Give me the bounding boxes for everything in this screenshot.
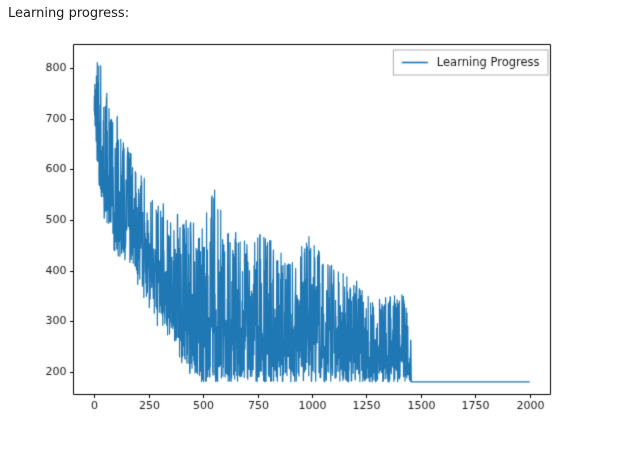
page-root: Learning progress: [0,0,634,452]
matplotlib-figure [0,26,634,446]
learning-progress-chart [0,26,634,446]
page-title: Learning progress: [8,6,129,22]
